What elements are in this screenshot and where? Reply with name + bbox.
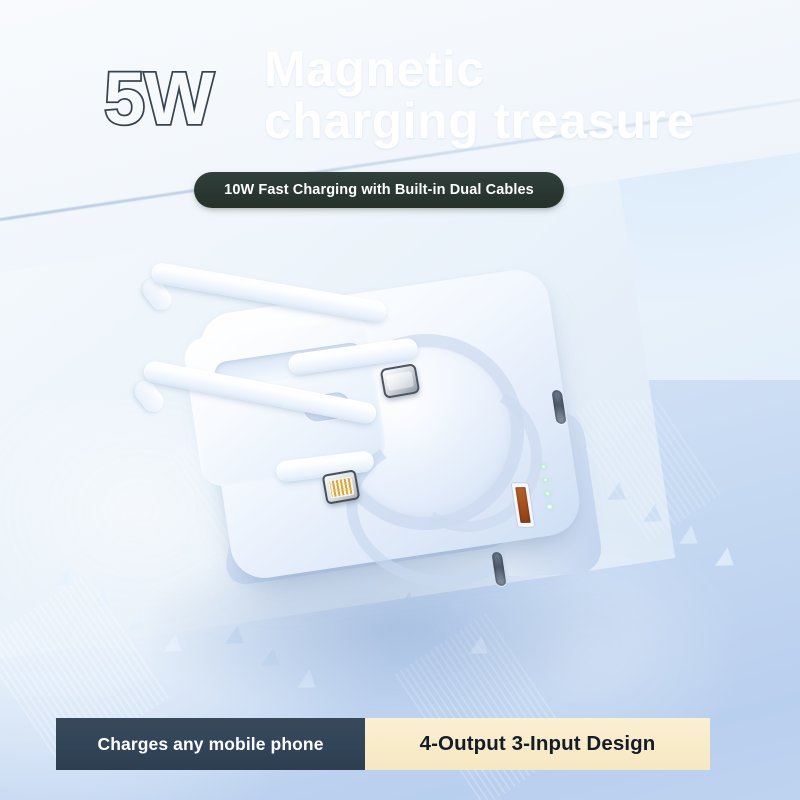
banner-output-input-design: 4-Output 3-Input Design (365, 718, 710, 770)
bottom-banner-row: Charges any mobile phone 4-Output 3-Inpu… (56, 718, 710, 770)
subtitle-pill: 10W Fast Charging with Built-in Dual Cab… (194, 172, 564, 208)
battery-led-2 (543, 477, 548, 482)
battery-led-3 (545, 491, 550, 496)
usb-c-connector-head (380, 363, 421, 399)
headline-block: Magnetic charging treasure 5W (0, 0, 800, 170)
magnetic-power-bank (196, 286, 586, 616)
battery-led-1 (541, 464, 546, 469)
lightning-contact-pins (328, 476, 355, 499)
banner-charges-any-phone: Charges any mobile phone (56, 718, 365, 770)
headline-line-1: Magnetic (264, 44, 485, 95)
lightning-connector-head (322, 469, 361, 504)
headline-line-2: charging treasure (264, 96, 695, 147)
product-banner-image: Magnetic charging treasure 5W 10W Fast C… (0, 0, 800, 800)
wattage-badge: 5W (104, 62, 213, 136)
battery-led-4 (547, 504, 552, 509)
